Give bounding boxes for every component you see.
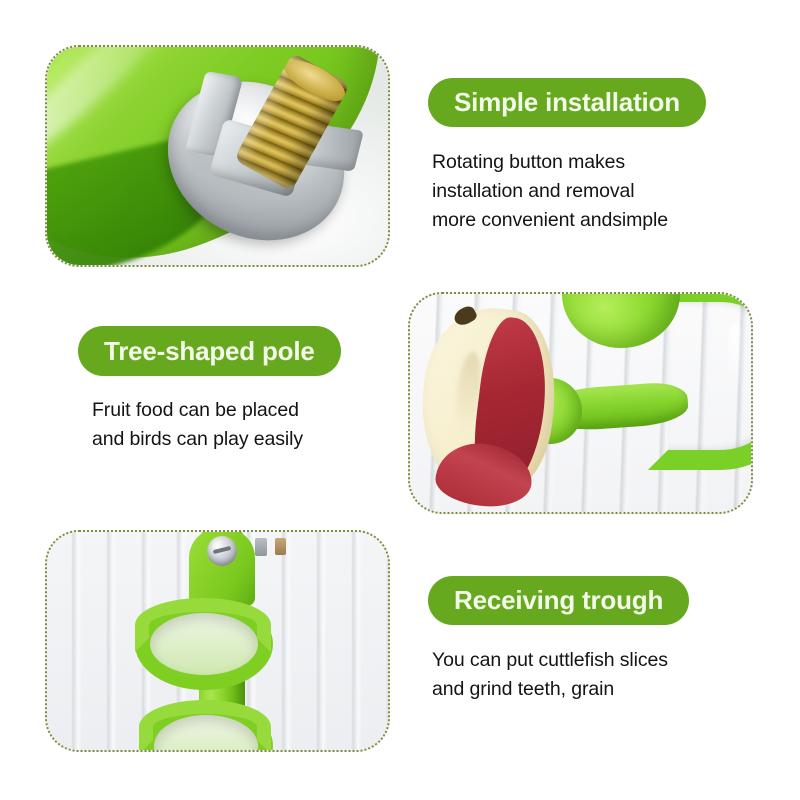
- feature-photo-simple-installation: [45, 45, 390, 267]
- cage-clip-metal: [255, 538, 267, 556]
- feature-photo-receiving-trough: [45, 530, 390, 752]
- infographic-page: Simple installation Rotating button make…: [0, 0, 800, 800]
- cage-clip-brass: [275, 538, 286, 555]
- feature-description-simple-installation: Rotating button makes installation and r…: [432, 148, 762, 235]
- feature-title-tree-shaped-pole: Tree-shaped pole: [78, 326, 341, 376]
- feature-title-receiving-trough: Receiving trough: [428, 576, 689, 625]
- feature-photo-tree-shaped-pole: [408, 292, 753, 514]
- upper-trough-rim: [135, 598, 271, 652]
- hook-highlight: [728, 324, 740, 388]
- photo-inner: [410, 294, 751, 512]
- feature-description-tree-shaped-pole: Fruit food can be placed and birds can p…: [92, 396, 392, 454]
- feature-title-simple-installation: Simple installation: [428, 78, 706, 127]
- photo-inner: [47, 532, 388, 750]
- feature-description-receiving-trough: You can put cuttlefish slices and grind …: [432, 646, 762, 704]
- photo-inner: [47, 47, 388, 265]
- lower-trough-rim: [139, 700, 271, 750]
